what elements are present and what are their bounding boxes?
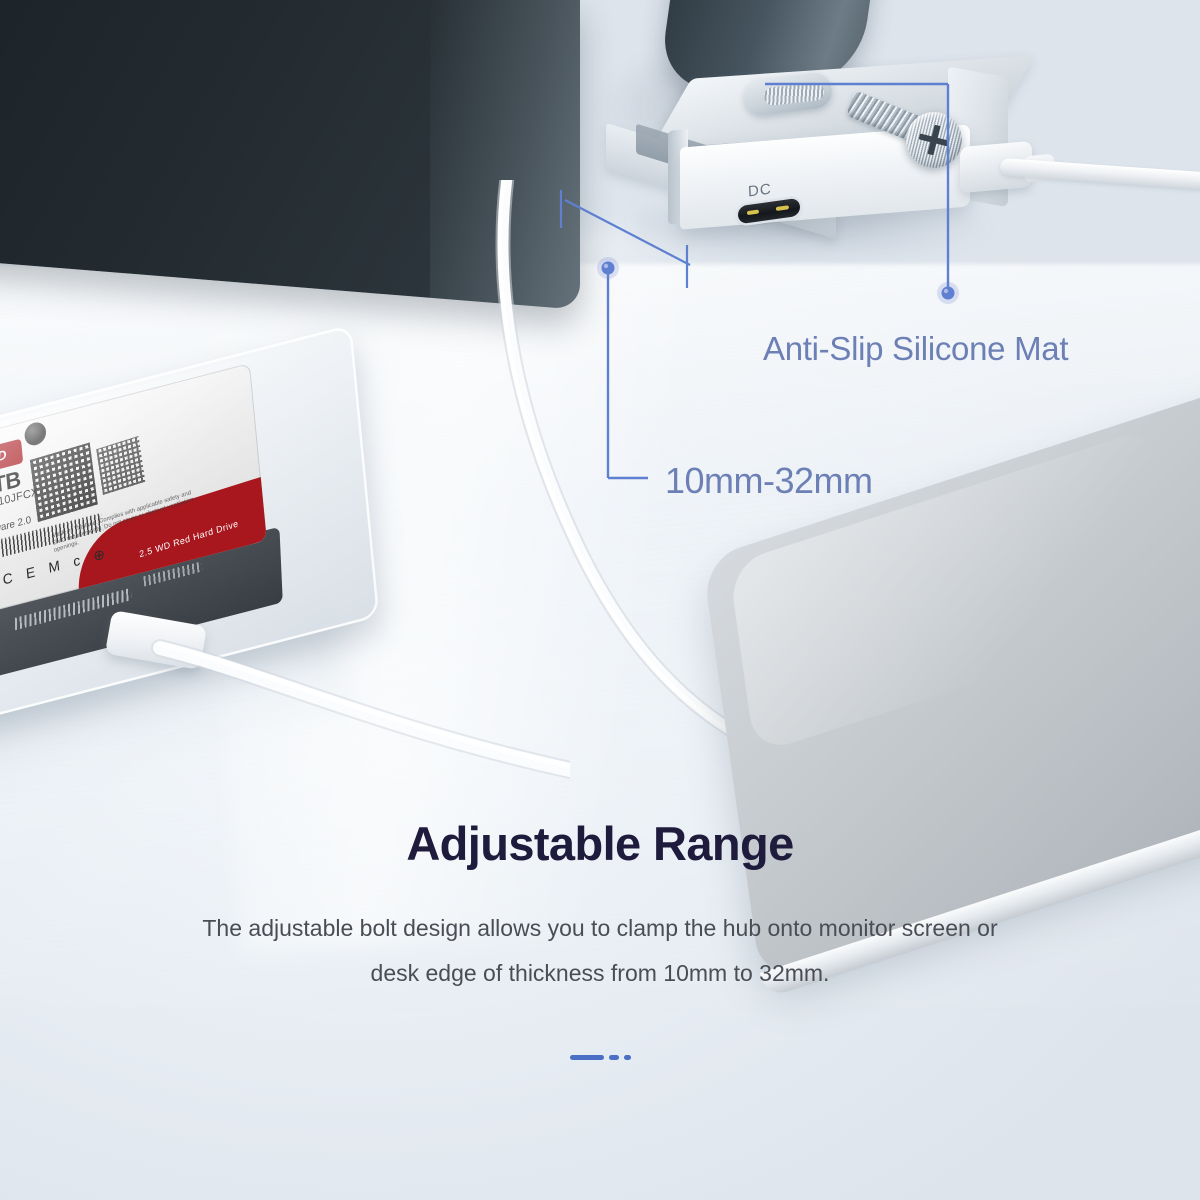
decorative-divider [0, 1055, 1200, 1060]
usb-cable [150, 620, 570, 800]
dc-plug-cable [1000, 158, 1200, 191]
divider-segment-short [624, 1055, 631, 1060]
product-marketing-image: DC WD 1 TB WD10JFCX [0, 0, 1200, 1200]
callout-label-thickness-range: 10mm-32mm [665, 460, 873, 502]
dc-port-pin [747, 209, 759, 215]
datamatrix-code [96, 436, 145, 495]
divider-segment-long [570, 1055, 604, 1060]
page-title: Adjustable Range [0, 818, 1200, 870]
screw-hole [24, 420, 47, 448]
divider-segment-medium [609, 1055, 619, 1060]
description-line-1: The adjustable bolt design allows you to… [100, 906, 1100, 951]
dc-port-label: DC [748, 180, 773, 200]
qr-code [30, 442, 98, 522]
dc-port-pin [776, 205, 789, 211]
callout-label-silicone-mat: Anti-Slip Silicone Mat [763, 330, 1068, 368]
description-text: The adjustable bolt design allows you to… [0, 906, 1200, 996]
product-photo-scene: DC WD 1 TB WD10JFCX [0, 0, 1200, 1200]
description-line-2: desk edge of thickness from 10mm to 32mm… [100, 951, 1100, 996]
copy-block: Adjustable Range The adjustable bolt des… [0, 818, 1200, 995]
phillips-cross-icon [919, 133, 950, 146]
usb-hub-clamp: DC [596, 52, 1026, 267]
